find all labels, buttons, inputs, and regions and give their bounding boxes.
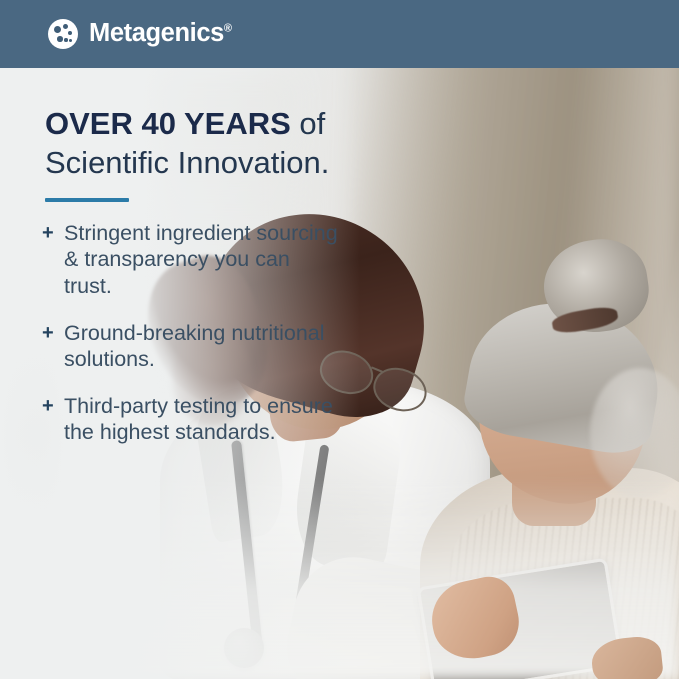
feature-list: + Stringent ingredient sourcing & transp…: [42, 220, 679, 446]
list-item-label: Stringent ingredient sourcing & transpar…: [64, 220, 342, 299]
headline-second-line: Scientific Innovation.: [45, 145, 329, 180]
list-item: + Third-party testing to ensure the high…: [42, 393, 342, 445]
accent-divider: [45, 198, 129, 202]
registered-trademark-mark: ®: [224, 23, 232, 35]
promo-content: OVER 40 YEARS of Scientific Innovation. …: [0, 68, 679, 467]
headline-emphasis: OVER 40 YEARS: [45, 106, 291, 141]
plus-icon: +: [42, 220, 64, 245]
metagenics-molecule-icon: [48, 19, 78, 49]
plus-icon: +: [42, 393, 64, 418]
advertisement-banner: Metagenics® OVER 40 YEARS of Scientific …: [0, 0, 679, 679]
list-item-label: Ground-breaking nutritional solutions.: [64, 320, 342, 372]
brand-name: Metagenics®: [89, 21, 232, 47]
molecule-dot: [54, 26, 61, 33]
brand-name-text: Metagenics: [89, 19, 224, 47]
brand-logo[interactable]: Metagenics®: [48, 19, 232, 49]
headline-rest: of: [291, 106, 325, 141]
page-title: OVER 40 YEARS of Scientific Innovation.: [45, 104, 465, 182]
molecule-dot: [69, 39, 72, 42]
molecule-dot: [64, 38, 68, 42]
plus-icon: +: [42, 320, 64, 345]
list-item: + Stringent ingredient sourcing & transp…: [42, 220, 342, 299]
background-floor-fade: [0, 479, 679, 679]
list-item: + Ground-breaking nutritional solutions.: [42, 320, 342, 372]
molecule-dot: [57, 36, 63, 42]
molecule-dot: [68, 31, 72, 35]
list-item-label: Third-party testing to ensure the highes…: [64, 393, 342, 445]
molecule-dot: [63, 24, 68, 29]
brand-header-bar: Metagenics®: [0, 0, 679, 68]
